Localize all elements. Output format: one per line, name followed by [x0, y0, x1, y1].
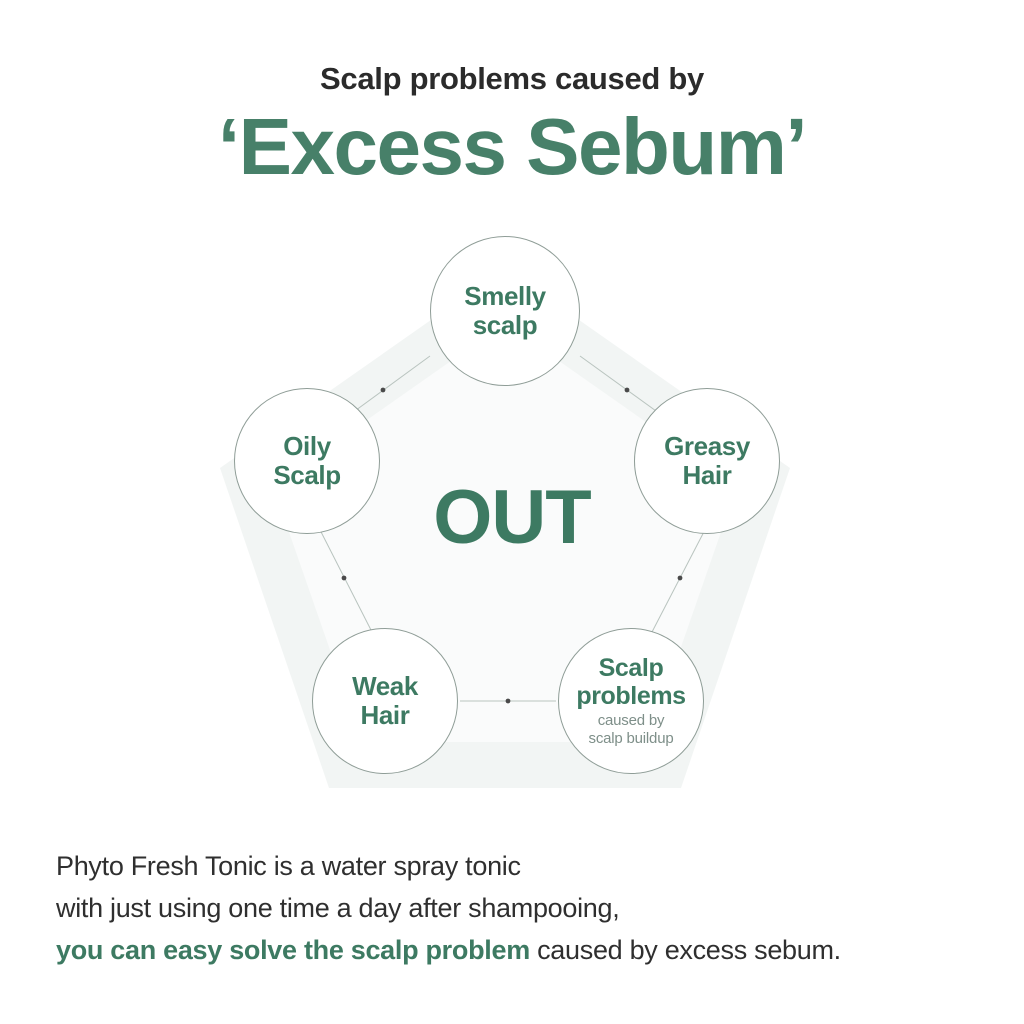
footer-line-1: Phyto Fresh Tonic is a water spray tonic: [56, 845, 986, 887]
pentagon-diagram: OUT Smelly scalp Greasy Hair Scalp probl…: [192, 228, 832, 808]
page-kicker: Scalp problems caused by: [0, 0, 1024, 96]
node-scalp-problems-sublabel: caused by scalp buildup: [589, 712, 674, 747]
connector-dot-1: [381, 388, 386, 393]
node-smelly-scalp[interactable]: Smelly scalp: [430, 236, 580, 386]
node-oily-scalp[interactable]: Oily Scalp: [234, 388, 380, 534]
node-scalp-problems[interactable]: Scalp problems caused by scalp buildup: [558, 628, 704, 774]
node-greasy-hair[interactable]: Greasy Hair: [634, 388, 780, 534]
connector-dot-3: [342, 576, 347, 581]
node-greasy-hair-label: Greasy Hair: [664, 432, 750, 490]
node-oily-scalp-label: Oily Scalp: [273, 432, 340, 490]
footer-highlight-text: you can easy solve the scalp problem: [56, 935, 530, 965]
header: Scalp problems caused by ‘Excess Sebum’: [0, 0, 1024, 192]
connector-dot-4: [678, 576, 683, 581]
footer-description: Phyto Fresh Tonic is a water spray tonic…: [56, 845, 986, 971]
node-scalp-problems-label: Scalp problems: [576, 654, 685, 710]
node-weak-hair[interactable]: Weak Hair: [312, 628, 458, 774]
node-weak-hair-label: Weak Hair: [352, 672, 418, 730]
footer-line-2: with just using one time a day after sha…: [56, 887, 986, 929]
connector-dot-5: [506, 699, 511, 704]
connector-dot-2: [625, 388, 630, 393]
footer-line-3-rest: caused by excess sebum.: [530, 935, 841, 965]
node-smelly-scalp-label: Smelly scalp: [464, 282, 545, 340]
page-title: ‘Excess Sebum’: [0, 96, 1024, 192]
footer-line-3: you can easy solve the scalp problem cau…: [56, 929, 986, 971]
